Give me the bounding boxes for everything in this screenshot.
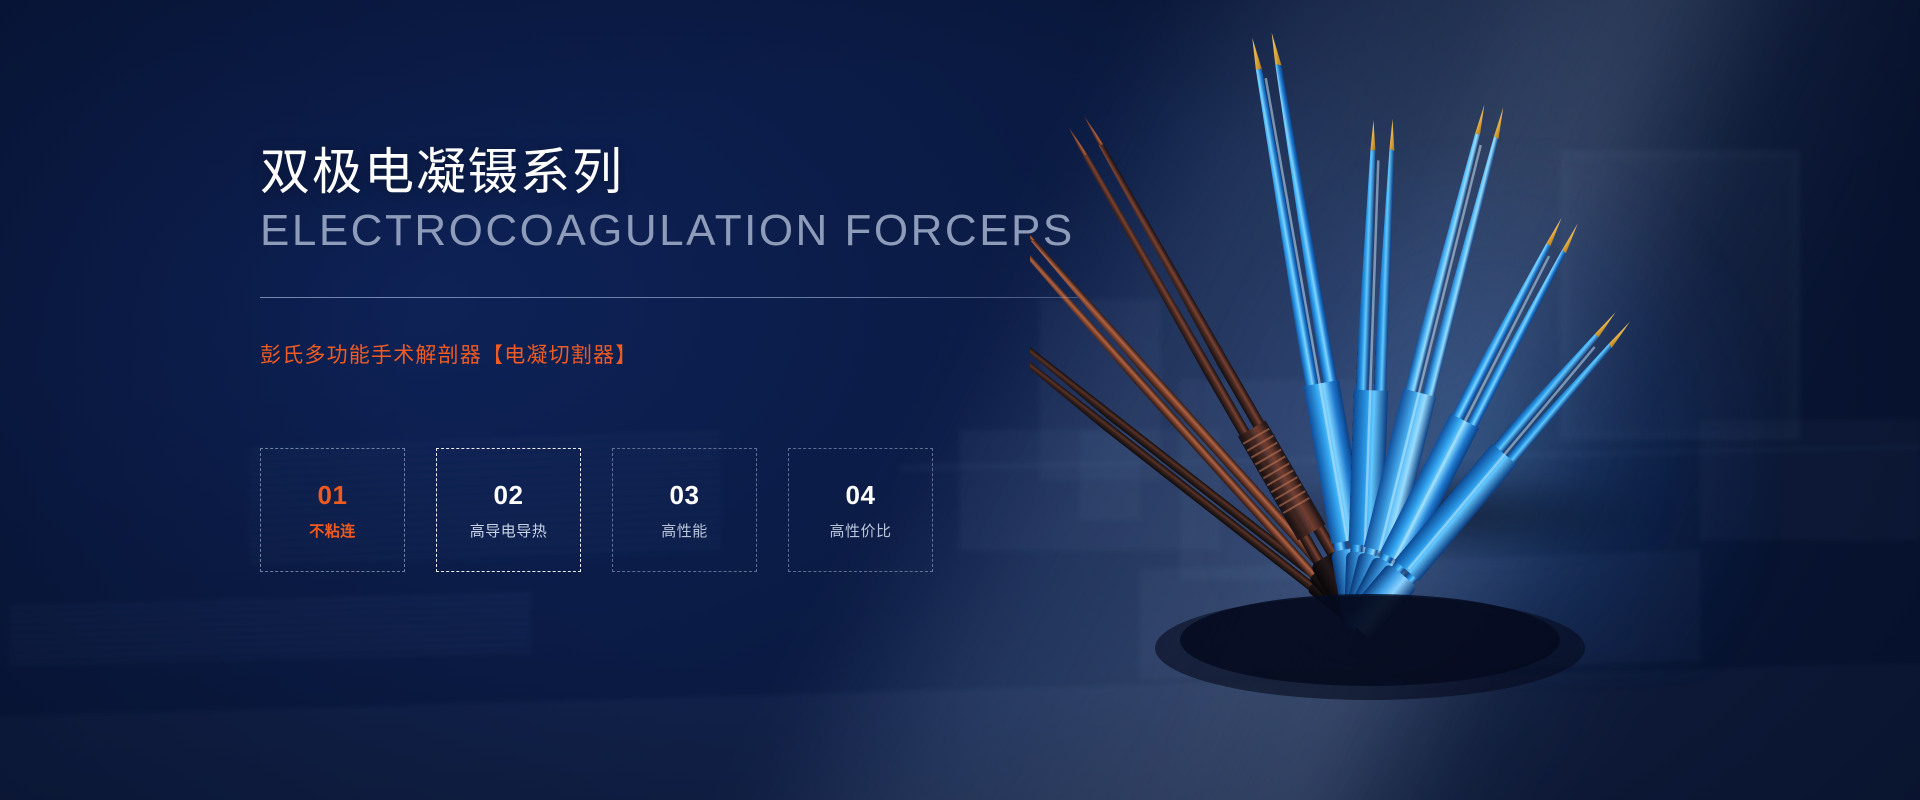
feature-number: 04 (846, 482, 876, 508)
feature-label: 高性价比 (829, 524, 891, 539)
banner-content: 双极电凝镊系列 ELECTROCOAGULATION FORCEPS 彭氏多功能… (260, 0, 1160, 800)
feature-item-02[interactable]: 02 高导电导热 (436, 448, 581, 572)
page-title: 双极电凝镊系列 (260, 143, 624, 201)
feature-label: 高性能 (661, 524, 708, 539)
forceps-fan-illustration (1030, 0, 1920, 800)
product-tagline: 彭氏多功能手术解剖器【电凝切割器】 (260, 339, 637, 369)
feature-item-01[interactable]: 01 不粘连 (260, 448, 405, 572)
product-image (1030, 0, 1920, 800)
feature-item-03[interactable]: 03 高性能 (612, 448, 757, 572)
feature-label: 不粘连 (309, 524, 356, 539)
product-banner: 双极电凝镊系列 ELECTROCOAGULATION FORCEPS 彭氏多功能… (0, 0, 1920, 800)
feature-list: 01 不粘连 02 高导电导热 03 高性能 04 高性价比 (260, 448, 933, 572)
feature-number: 02 (494, 482, 524, 508)
feature-number: 03 (670, 482, 700, 508)
title-divider (260, 297, 1078, 298)
feature-item-04[interactable]: 04 高性价比 (788, 448, 933, 572)
feature-label: 高导电导热 (470, 524, 548, 539)
page-subtitle-english: ELECTROCOAGULATION FORCEPS (260, 207, 1075, 255)
feature-number: 01 (318, 482, 348, 508)
